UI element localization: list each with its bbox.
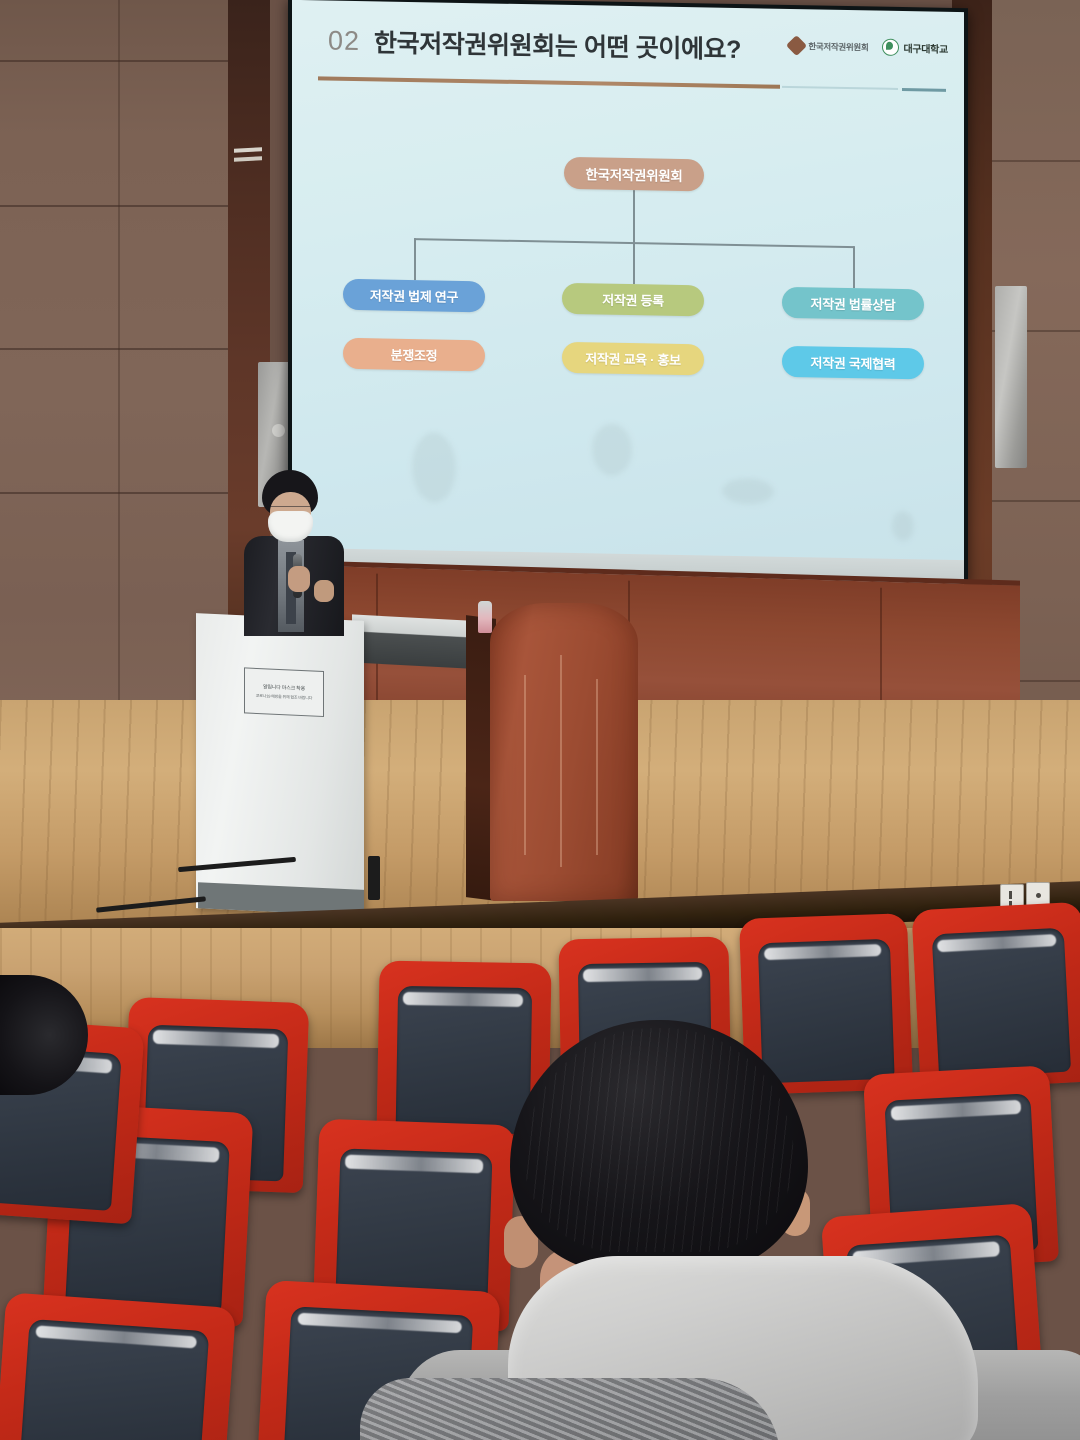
slide-section-number: 02 (328, 25, 360, 57)
podium-sign-line-2: 코로나19 예방을 위해 협조 바랍니다 (256, 693, 312, 702)
org-node-international-cooperation: 저작권 국제협력 (782, 346, 924, 380)
chart-connector-vertical (414, 238, 416, 280)
water-bottle (478, 601, 492, 633)
chart-connector-vertical (633, 190, 635, 242)
projection-screen: 02 한국저작권위원회는 어떤 곳이에요? 한국저작권위원회 대구대학교 (292, 0, 964, 560)
org-node-copyright-legal-counsel: 저작권 법률상담 (782, 287, 924, 321)
presenter-hand-right (314, 580, 334, 602)
podium-notice-sign: 알립니다 마스크 착용 코로나19 예방을 위해 협조 바랍니다 (244, 667, 324, 717)
title-underline-primary (318, 76, 780, 88)
org-node-copyright-legislation-research: 저작권 법제 연구 (343, 279, 485, 313)
speaker-driver-icon (272, 424, 285, 437)
wall-seam (0, 205, 252, 207)
chart-connector-vertical (633, 242, 635, 284)
presenter-face-mask (268, 511, 313, 542)
student-knit-garment (360, 1378, 780, 1440)
wall-seam (980, 500, 1080, 502)
kca-logo-label: 한국저작권위원회 (808, 40, 868, 53)
daegu-logo-label: 대구대학교 (903, 40, 948, 56)
right-speaker-panel (995, 286, 1027, 468)
white-podium: 알립니다 마스크 착용 코로나19 예방을 위해 협조 바랍니다 (196, 613, 364, 916)
kca-logo-mark-icon (786, 35, 807, 56)
presenter-hand-left (288, 566, 310, 592)
wall-vent-icon (234, 147, 262, 152)
wooden-lectern (466, 595, 638, 902)
lectern-front-panel (490, 603, 638, 901)
org-node-root: 한국저작권위원회 (564, 157, 704, 192)
presentation-slide: 02 한국저작권위원회는 어떤 곳이에요? 한국저작권위원회 대구대학교 (292, 0, 964, 560)
auditorium-seat (0, 1292, 236, 1440)
org-node-copyright-education-pr: 저작권 교육 · 홍보 (562, 342, 704, 376)
seat-glare (583, 967, 702, 982)
podium-sign-line-1: 알립니다 마스크 착용 (263, 683, 305, 692)
lecture-hall-photo: 02 한국저작권위원회는 어떤 곳이에요? 한국저작권위원회 대구대학교 (0, 0, 1080, 1440)
slide-title: 한국저작권위원회는 어떤 곳이에요? (374, 23, 741, 66)
presenter (238, 470, 358, 635)
student-hair (510, 1020, 808, 1272)
wall-seam (980, 160, 1080, 162)
kca-logo: 한국저작권위원회 (789, 38, 868, 54)
wall-seam (0, 492, 252, 494)
title-underline-faint (782, 86, 898, 90)
daegu-university-logo: 대구대학교 (882, 39, 948, 57)
foreground-student (480, 1020, 1080, 1440)
slide-logo-group: 한국저작권위원회 대구대학교 (789, 37, 948, 57)
seat-glare (403, 992, 524, 1007)
org-node-dispute-mediation: 분쟁조정 (343, 338, 485, 372)
lectern-groove (560, 655, 562, 867)
outlet-slot (1036, 893, 1041, 898)
floor-cable (368, 856, 380, 900)
lectern-groove (524, 675, 526, 855)
org-node-copyright-registration: 저작권 등록 (562, 283, 704, 317)
outlet-slot (1009, 891, 1012, 899)
lectern-groove (596, 679, 598, 855)
daegu-logo-mark-icon (882, 39, 899, 56)
title-underline-accent (902, 88, 946, 92)
wall-seam (0, 60, 252, 62)
wall-seam (0, 348, 252, 350)
chart-connector-vertical (853, 246, 855, 288)
